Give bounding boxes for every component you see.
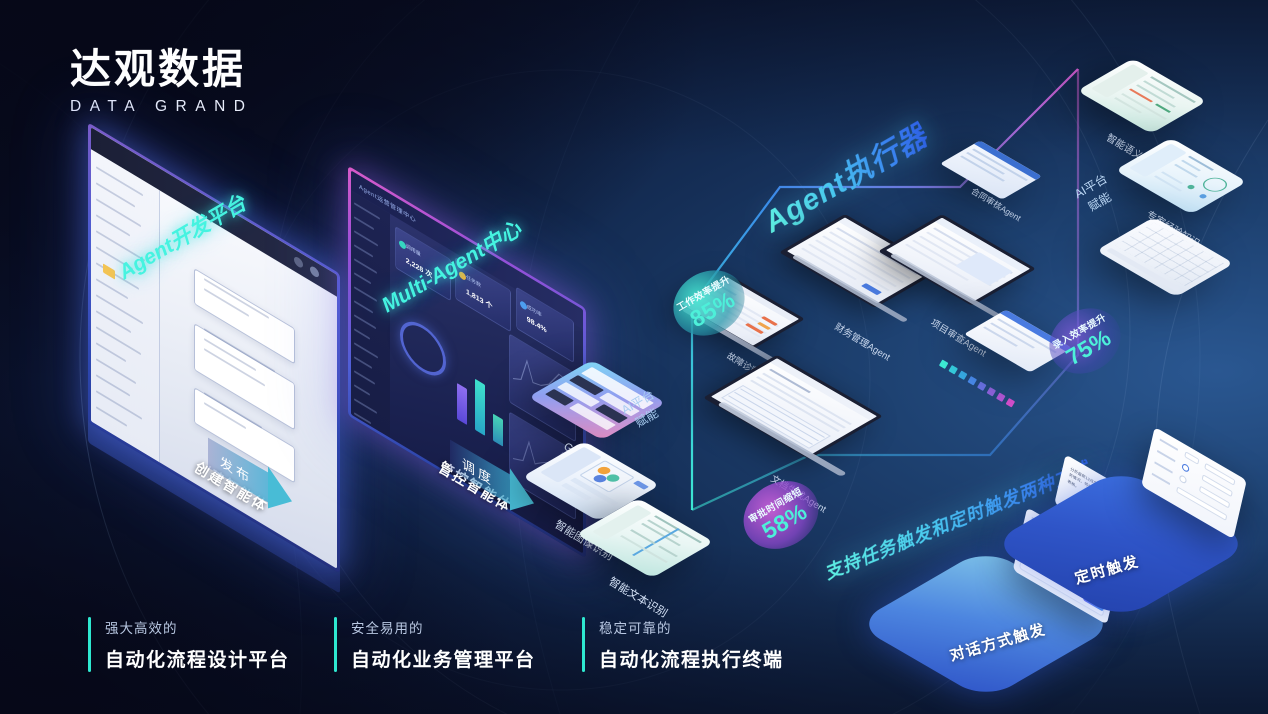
metric-card-2-value: 1,813 个 (466, 287, 492, 313)
footer-title-1: 自动化流程设计平台 (105, 645, 290, 672)
footer-item-3: 稳定可靠的 自动化流程执行终端 (582, 617, 814, 672)
brand-logo: 达观数据 DATA GRAND (70, 45, 253, 116)
monitor-2-screen: Agent运营管理中心 调用量 2,228 次 (351, 170, 583, 553)
footer-captions: 强大高效的 自动化流程设计平台 安全易用的 自动化业务管理平台 稳定可靠的 自动… (88, 617, 814, 672)
metric-card-3-value: 98.4% (527, 316, 547, 335)
label-ai-platform-right: AI平台 赋能 (1071, 170, 1120, 219)
laptop-screen (711, 358, 877, 454)
footer-subtitle-1: 强大高效的 (105, 617, 290, 637)
footer-title-2: 自动化业务管理平台 (351, 645, 536, 672)
card-semantic-analysis[interactable] (1077, 58, 1207, 133)
footer-accent-bar (88, 617, 91, 672)
infographic-canvas: 达观数据 DATA GRAND (0, 0, 1268, 714)
brand-name-en: DATA GRAND (70, 98, 253, 116)
monitor-2-sidebar[interactable] (351, 190, 390, 438)
footer-title-3: 自动化流程执行终端 (599, 645, 784, 672)
executor-dot-connector (939, 359, 1015, 407)
footer-accent-bar (334, 617, 337, 672)
brand-name-cn: 达观数据 (70, 45, 253, 93)
donut-chart (400, 312, 446, 386)
executor-mini-monitor[interactable] (940, 140, 1042, 199)
card-knowledge-grid[interactable] (1096, 217, 1234, 297)
monitor-1-sidebar-rows (91, 149, 159, 462)
metric-dot-icon (399, 239, 406, 250)
label-text-recognition: 智能文本识别 (606, 573, 671, 621)
monitor-1-sidebar[interactable] (91, 149, 160, 462)
footer-item-2: 安全易用的 自动化业务管理平台 (334, 617, 582, 672)
footer-item-1: 强大高效的 自动化流程设计平台 (88, 617, 334, 672)
footer-subtitle-3: 稳定可靠的 (599, 617, 784, 637)
monitor-multi-agent-center[interactable]: Agent运营管理中心 调用量 2,228 次 (348, 166, 586, 559)
stat-badge-entry-efficiency: 录入效率提升 75% (1037, 296, 1132, 387)
footer-subtitle-2: 安全易用的 (351, 617, 536, 637)
metric-dot-icon (520, 299, 527, 310)
footer-accent-bar (582, 617, 585, 672)
label-finance-management-agent: 财务管理Agent (832, 319, 893, 363)
stat-badge-approval-time: 审批时间缩短 58% (731, 468, 831, 562)
